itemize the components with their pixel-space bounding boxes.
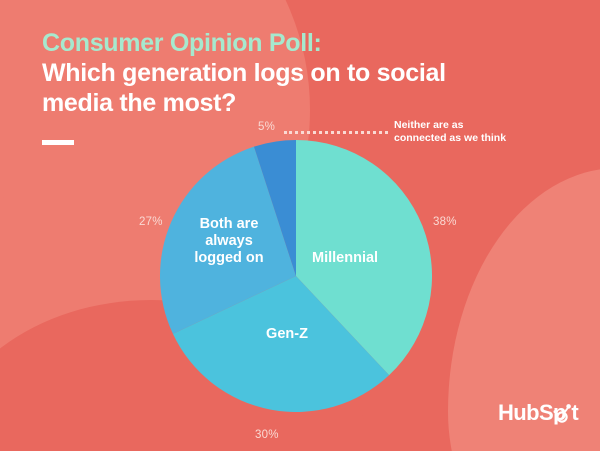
title-line-2: Which generation logs on to social [42, 58, 522, 88]
callout-leader-line [284, 131, 388, 137]
sprocket-icon [552, 402, 572, 429]
hubspot-logo: HubSp t [498, 402, 578, 424]
slice-label-both: Both are always logged on [170, 216, 288, 267]
pie-chart: Millennial Gen-Z Both are always logged … [160, 140, 432, 412]
title-line-1: Consumer Opinion Poll: [42, 28, 522, 58]
pie-chart-svg [160, 140, 432, 412]
title-underline-rule [42, 140, 74, 145]
slice-label-genz: Gen-Z [232, 326, 342, 343]
percent-label-genz: 30% [255, 429, 279, 441]
title-line-3: media the most? [42, 88, 522, 118]
percent-label-millennial: 38% [433, 216, 457, 228]
slice-label-millennial: Millennial [312, 250, 422, 267]
percent-label-neither: 5% [258, 121, 275, 133]
page-title: Consumer Opinion Poll: Which generation … [42, 28, 522, 118]
infographic-poster: Consumer Opinion Poll: Which generation … [0, 0, 600, 451]
